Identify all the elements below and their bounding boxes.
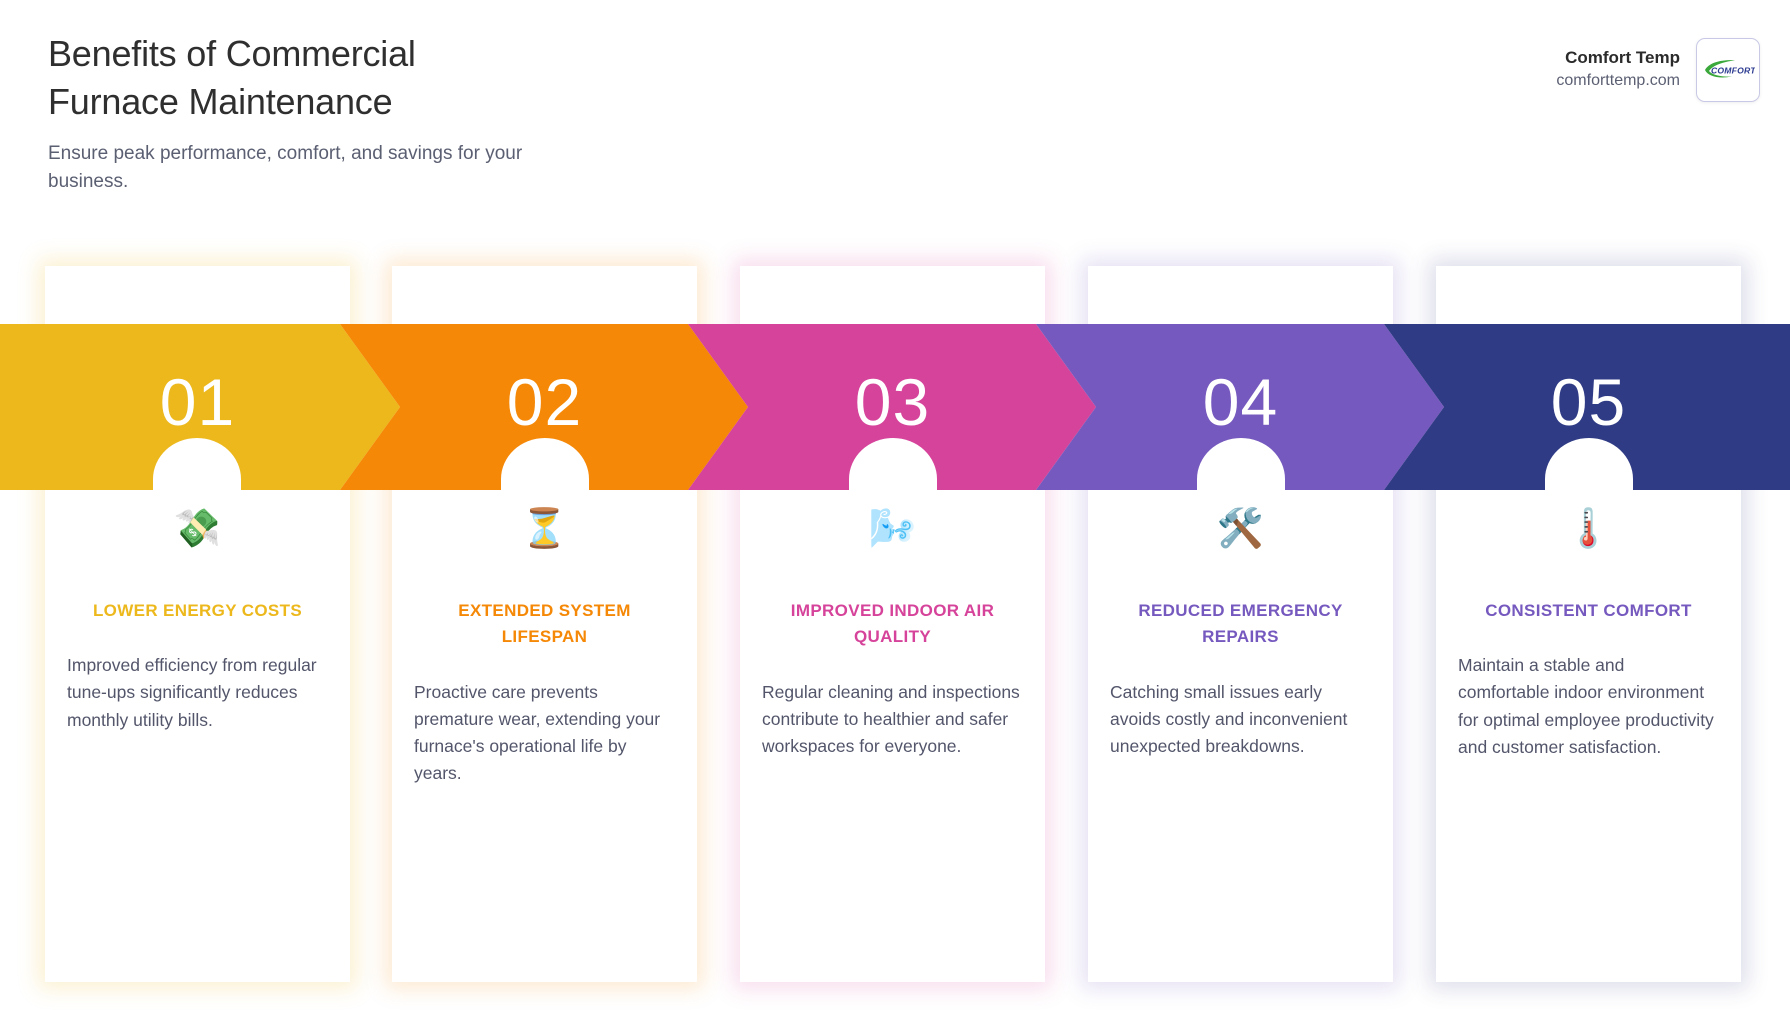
- brand-url: comforttemp.com: [1556, 70, 1680, 92]
- step-card-body: 🌬️ IMPROVED INDOOR AIR QUALITY Regular c…: [740, 506, 1045, 760]
- step-number: 01: [45, 324, 350, 490]
- step-title: CONSISTENT COMFORT: [1458, 598, 1719, 624]
- page-subtitle: Ensure peak performance, comfort, and sa…: [48, 140, 568, 196]
- header-block: Benefits of Commercial Furnace Maintenan…: [48, 30, 828, 196]
- step-description: Maintain a stable and comfortable indoor…: [1458, 652, 1719, 761]
- step-number: 05: [1436, 324, 1741, 490]
- step-title: LOWER ENERGY COSTS: [67, 598, 328, 624]
- step-number: 04: [1088, 324, 1393, 490]
- step-card-body: 🛠️ REDUCED EMERGENCY REPAIRS Catching sm…: [1088, 506, 1393, 760]
- step-title: REDUCED EMERGENCY REPAIRS: [1110, 598, 1371, 651]
- page-title: Benefits of Commercial Furnace Maintenan…: [48, 30, 448, 126]
- page-title-line-1: Benefits of Commercial: [48, 33, 416, 74]
- money-with-wings-icon: 💸: [67, 506, 328, 552]
- brand-block: Comfort Temp comforttemp.com COMFORT TEM…: [1556, 38, 1760, 102]
- hammer-and-wrench-icon: 🛠️: [1110, 506, 1371, 552]
- step-number: 02: [392, 324, 697, 490]
- svg-text:COMFORT TEMP: COMFORT TEMP: [1711, 66, 1755, 76]
- hourglass-icon: ⏳: [414, 506, 675, 552]
- step-card-body: 💸 LOWER ENERGY COSTS Improved efficiency…: [45, 506, 350, 734]
- step-numbers: 01 02 03 04 05: [0, 324, 1790, 490]
- infographic-canvas: Benefits of Commercial Furnace Maintenan…: [0, 0, 1790, 1024]
- step-description: Catching small issues early avoids costl…: [1110, 679, 1371, 760]
- step-description: Improved efficiency from regular tune-up…: [67, 652, 328, 733]
- step-card-body: 🌡️ CONSISTENT COMFORT Maintain a stable …: [1436, 506, 1741, 761]
- comfort-temp-logo-icon: COMFORT TEMP: [1701, 55, 1755, 85]
- brand-text: Comfort Temp comforttemp.com: [1556, 47, 1680, 92]
- step-title: EXTENDED SYSTEM LIFESPAN: [414, 598, 675, 651]
- step-card-body: ⏳ EXTENDED SYSTEM LIFESPAN Proactive car…: [392, 506, 697, 787]
- brand-logo: COMFORT TEMP: [1696, 38, 1760, 102]
- brand-name: Comfort Temp: [1556, 47, 1680, 70]
- page-title-line-2: Furnace Maintenance: [48, 81, 392, 122]
- wind-face-icon: 🌬️: [762, 506, 1023, 552]
- step-title: IMPROVED INDOOR AIR QUALITY: [762, 598, 1023, 651]
- step-description: Proactive care prevents premature wear, …: [414, 679, 675, 788]
- step-number: 03: [740, 324, 1045, 490]
- step-description: Regular cleaning and inspections contrib…: [762, 679, 1023, 760]
- thermometer-icon: 🌡️: [1458, 506, 1719, 552]
